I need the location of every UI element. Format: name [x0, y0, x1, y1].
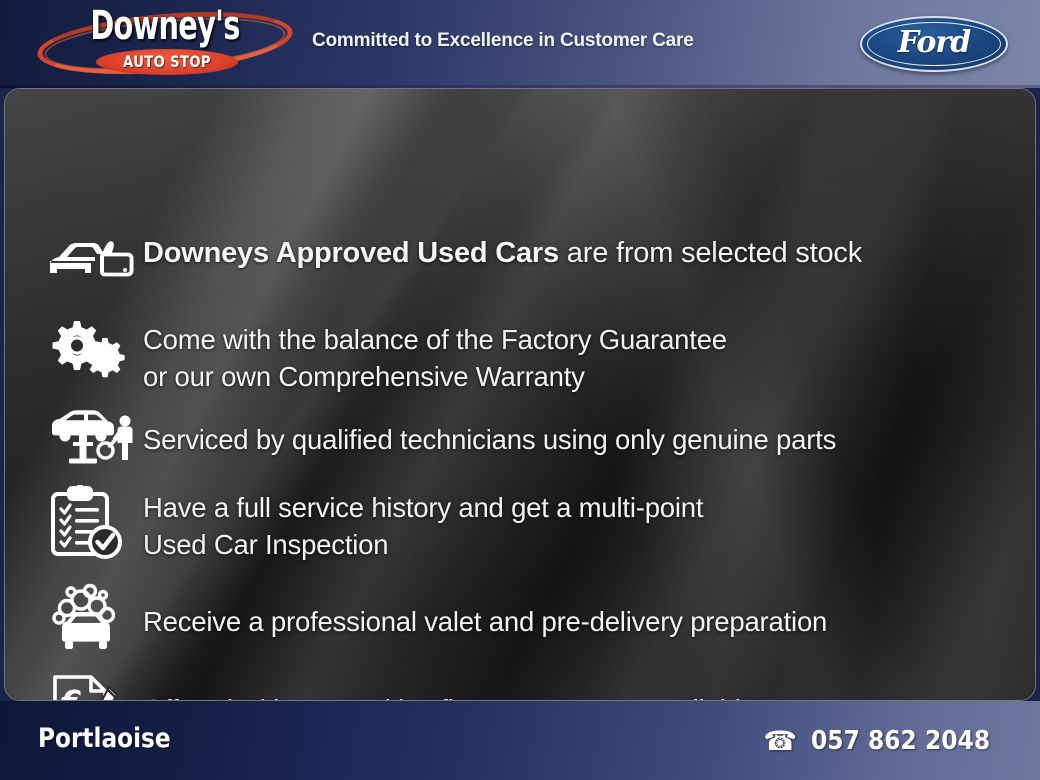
header-bar: Downey's AUTO STOP Committed to Excellen…: [0, 0, 1040, 88]
feature-text: Offered with competitive finance rates a…: [143, 669, 756, 701]
feature-text: Receive a professional valet and pre-del…: [143, 581, 827, 640]
feature-list: Downeys Approved Used Cars are from sele…: [5, 89, 1035, 700]
feature-item: Receive a professional valet and pre-del…: [47, 581, 827, 653]
feature-text: Downeys Approved Used Cars are from sele…: [143, 229, 862, 272]
telephone-icon: ☎: [763, 728, 797, 755]
feature-item: Downeys Approved Used Cars are from sele…: [47, 229, 862, 283]
feature-text: Come with the balance of the Factory Gua…: [143, 311, 727, 395]
feature-text-bold: Downeys Approved Used Cars: [143, 237, 559, 269]
feature-item: € Offered with competitive finance rates…: [47, 669, 756, 701]
advert-screenshot: Downey's AUTO STOP Committed to Excellen…: [0, 0, 1040, 780]
logo-name-text: Downey's: [71, 4, 260, 48]
feature-item: Serviced by qualified technicians using …: [47, 407, 836, 465]
downeys-logo[interactable]: Downey's AUTO STOP: [34, 2, 296, 86]
phone-number[interactable]: 057 862 2048: [811, 726, 990, 756]
location-label: Portlaoise: [38, 723, 171, 754]
contact-block[interactable]: ☎ 057 862 2048: [763, 726, 1010, 756]
feature-text-regular: are from selected stock: [559, 237, 862, 269]
features-panel: Downeys Approved Used Cars are from sele…: [4, 88, 1036, 701]
footer-bar: Portlaoise ☎ 057 862 2048: [0, 701, 1040, 780]
feature-item: Have a full service history and get a mu…: [47, 481, 703, 563]
car-wash-bubbles-icon: [47, 581, 143, 653]
euro-document-pen-icon: €: [47, 669, 143, 701]
clipboard-checklist-icon: [47, 481, 143, 559]
feature-text: Serviced by qualified technicians using …: [143, 407, 836, 458]
tagline: Committed to Excellence in Customer Care: [312, 30, 694, 52]
car-on-lift-mechanic-icon: [47, 407, 143, 465]
feature-text: Have a full service history and get a mu…: [143, 481, 703, 563]
car-thumbs-up-icon: [47, 229, 143, 283]
ford-logo-text: Ford: [862, 18, 1006, 70]
ford-logo[interactable]: Ford: [860, 16, 1008, 72]
gears-icon: [47, 311, 143, 383]
svg-text:€: €: [61, 685, 83, 701]
logo-subtitle-text: AUTO STOP: [109, 52, 225, 71]
feature-item: Come with the balance of the Factory Gua…: [47, 311, 727, 395]
